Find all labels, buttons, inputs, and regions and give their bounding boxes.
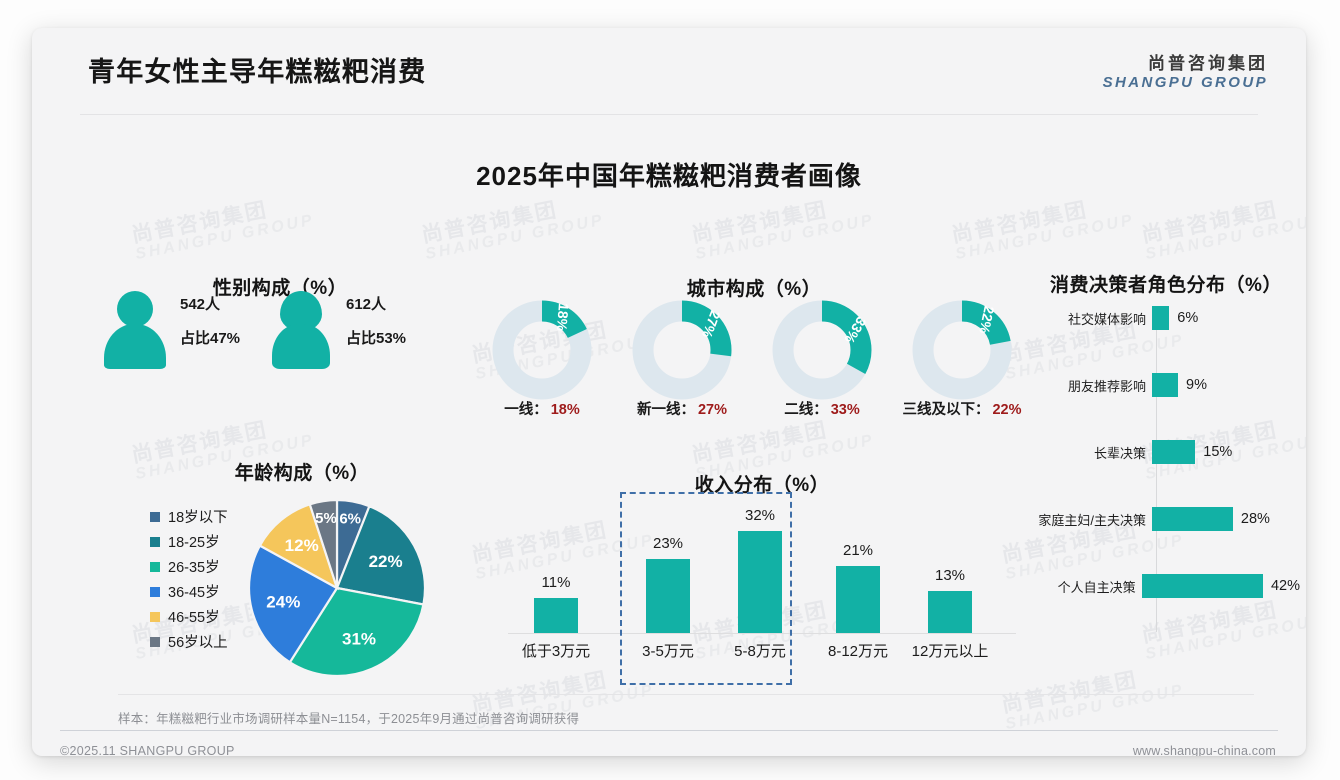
income-category-label-1: 低于3万元 [508,640,604,661]
income-bar-rect [534,598,578,633]
footer-divider [60,730,1278,731]
age-legend-item-5: 46-55岁 [150,604,228,629]
legend-swatch [150,612,160,622]
decision-row-1: 社交媒体影响6% [1032,306,1300,330]
income-value: 11% [508,574,604,591]
city-donut-label-4: 三线及以下：22% [902,398,1021,419]
male-count: 542人 [180,297,240,314]
legend-label: 56岁以上 [168,631,228,652]
male-share: 占比47% [180,331,240,348]
gender-item-male: 542人 占比47% [104,291,240,369]
city-donut-label-2: 新一线：27% [637,398,727,419]
decision-row-5: 个人自主决策42% [1032,574,1300,598]
decision-bar-rect [1152,507,1233,531]
watermark-text: 尚普咨询集团SHANGPU GROUP [1140,191,1306,264]
decision-row-4: 家庭主妇/主夫决策28% [1032,507,1300,531]
male-person-icon [104,291,166,369]
decision-bar-chart: 社交媒体影响6%朋友推荐影响9%长辈决策15%家庭主妇/主夫决策28%个人自主决… [1032,306,1300,636]
decision-bar-rect [1152,440,1195,464]
svg-text:31%: 31% [342,629,376,648]
age-legend-item-1: 18岁以下 [150,504,228,529]
watermark-text: 尚普咨询集团SHANGPU GROUP [130,191,316,264]
city-donut-2: 27%新一线：27% [632,300,732,400]
female-person-icon [270,291,332,369]
page-root: 尚普咨询集团SHANGPU GROUP尚普咨询集团SHANGPU GROUP尚普… [0,0,1340,780]
watermark-text: 尚普咨询集团SHANGPU GROUP [1000,661,1186,734]
city-donut-svg: 33% [772,300,872,400]
gender-item-female: 612人 占比53% [270,291,406,369]
logo-cn-text: 尚普咨询集团 [1103,54,1268,74]
header-divider [80,114,1258,115]
city-donut-1: 18%一线：18% [492,300,592,400]
city-name: 新一线： [637,402,695,418]
income-category-label-4: 8-12万元 [810,640,906,661]
age-pie-legend: 18岁以下18-25岁26-35岁36-45岁46-55岁56岁以上 [150,504,228,654]
legend-swatch [150,562,160,572]
svg-text:18%: 18% [554,303,572,333]
legend-label: 36-45岁 [168,581,220,602]
income-highlight-box [620,492,792,685]
svg-text:6%: 6% [339,510,361,527]
age-section-title: 年龄构成（%） [142,458,462,485]
decision-category-label: 社交媒体影响 [1032,309,1152,328]
income-bar-rect [836,566,880,633]
city-pct: 33% [831,402,860,418]
income-bar-chart: 11%23%32%21%13% 低于3万元3-5万元5-8万元8-12万元12万… [502,498,1022,688]
decision-bar-rect [1142,574,1263,598]
female-count: 612人 [346,297,406,314]
decision-value: 15% [1203,444,1232,460]
city-name: 三线及以下： [902,402,989,418]
city-name: 二线： [784,402,828,418]
age-pie-chart: 6%22%31%24%12%5% [242,493,432,688]
city-pct: 27% [698,402,727,418]
city-donut-group: 18%一线：18%27%新一线：27%33%二线：33%22%三线及以下：22% [484,300,1024,410]
footer-website[interactable]: www.shangpu-china.com [1133,744,1276,756]
city-donut-4: 22%三线及以下：22% [912,300,1012,400]
income-value: 13% [902,567,998,584]
legend-swatch [150,637,160,647]
decision-category-label: 家庭主妇/主夫决策 [1032,510,1152,529]
income-category-label-5: 12万元以上 [902,640,998,661]
svg-text:12%: 12% [285,536,319,555]
decision-row-2: 朋友推荐影响9% [1032,373,1300,397]
income-bar-4: 21% [810,542,906,633]
logo-en-text: SHANGPU GROUP [1103,74,1268,91]
income-bar-1: 11% [508,574,604,633]
watermark-text: 尚普咨询集团SHANGPU GROUP [420,191,606,264]
decision-value: 42% [1271,578,1300,594]
slide-footer: ©2025.11 SHANGPU GROUP www.shangpu-china… [32,736,1306,756]
legend-swatch [150,512,160,522]
age-legend-item-6: 56岁以上 [150,629,228,654]
city-donut-label-1: 一线：18% [504,398,580,419]
decision-category-label: 朋友推荐影响 [1032,376,1152,395]
watermark-text: 尚普咨询集团SHANGPU GROUP [690,191,876,264]
page-title: 青年女性主导年糕糍粑消费 [88,50,426,89]
city-pct: 22% [992,402,1021,418]
svg-text:22%: 22% [369,552,403,571]
footer-copyright: ©2025.11 SHANGPU GROUP [60,744,235,756]
age-legend-item-4: 36-45岁 [150,579,228,604]
gender-section: 542人 占比47% 612人 占比53% [100,273,460,383]
legend-label: 18岁以下 [168,506,228,527]
city-donut-svg: 18% [492,300,592,400]
age-pie-svg: 6%22%31%24%12%5% [242,493,432,683]
city-donut-svg: 22% [912,300,1012,400]
chart-main-title: 2025年中国年糕糍粑消费者画像 [32,156,1306,193]
decision-value: 9% [1186,377,1207,393]
income-value: 21% [810,542,906,559]
legend-label: 46-55岁 [168,606,220,627]
watermark-text: 尚普咨询集团SHANGPU GROUP [950,191,1136,264]
slide-header: 青年女性主导年糕糍粑消费 尚普咨询集团 SHANGPU GROUP [32,28,1306,106]
decision-value: 6% [1177,310,1198,326]
svg-text:5%: 5% [315,510,337,527]
decision-bar-rect [1152,373,1178,397]
city-section-title: 城市构成（%） [484,274,1024,301]
legend-label: 18-25岁 [168,531,220,552]
city-name: 一线： [504,402,548,418]
female-share: 占比53% [346,331,406,348]
legend-label: 26-35岁 [168,556,220,577]
decision-category-label: 个人自主决策 [1032,577,1142,596]
city-donut-3: 33%二线：33% [772,300,872,400]
city-pct: 18% [551,402,580,418]
decision-row-3: 长辈决策15% [1032,440,1300,464]
legend-swatch [150,537,160,547]
age-legend-item-2: 18-25岁 [150,529,228,554]
slide-card: 尚普咨询集团SHANGPU GROUP尚普咨询集团SHANGPU GROUP尚普… [32,28,1306,756]
income-bar-5: 13% [902,567,998,633]
age-legend-item-3: 26-35岁 [150,554,228,579]
decision-section-title: 消费决策者角色分布（%） [1032,270,1300,297]
decision-category-label: 长辈决策 [1032,443,1152,462]
legend-swatch [150,587,160,597]
decision-bar-rect [1152,306,1169,330]
city-donut-label-3: 二线：33% [784,398,860,419]
svg-text:24%: 24% [266,592,300,611]
decision-value: 28% [1241,511,1270,527]
note-divider [118,694,1254,695]
city-donut-svg: 27% [632,300,732,400]
sample-note: 样本：年糕糍粑行业市场调研样本量N=1154，于2025年9月通过尚普咨询调研获… [118,708,579,727]
brand-logo: 尚普咨询集团 SHANGPU GROUP [1103,54,1268,91]
age-pie-section: 18岁以下18-25岁26-35岁36-45岁46-55岁56岁以上 6%22%… [142,496,462,686]
income-bar-rect [928,591,972,633]
